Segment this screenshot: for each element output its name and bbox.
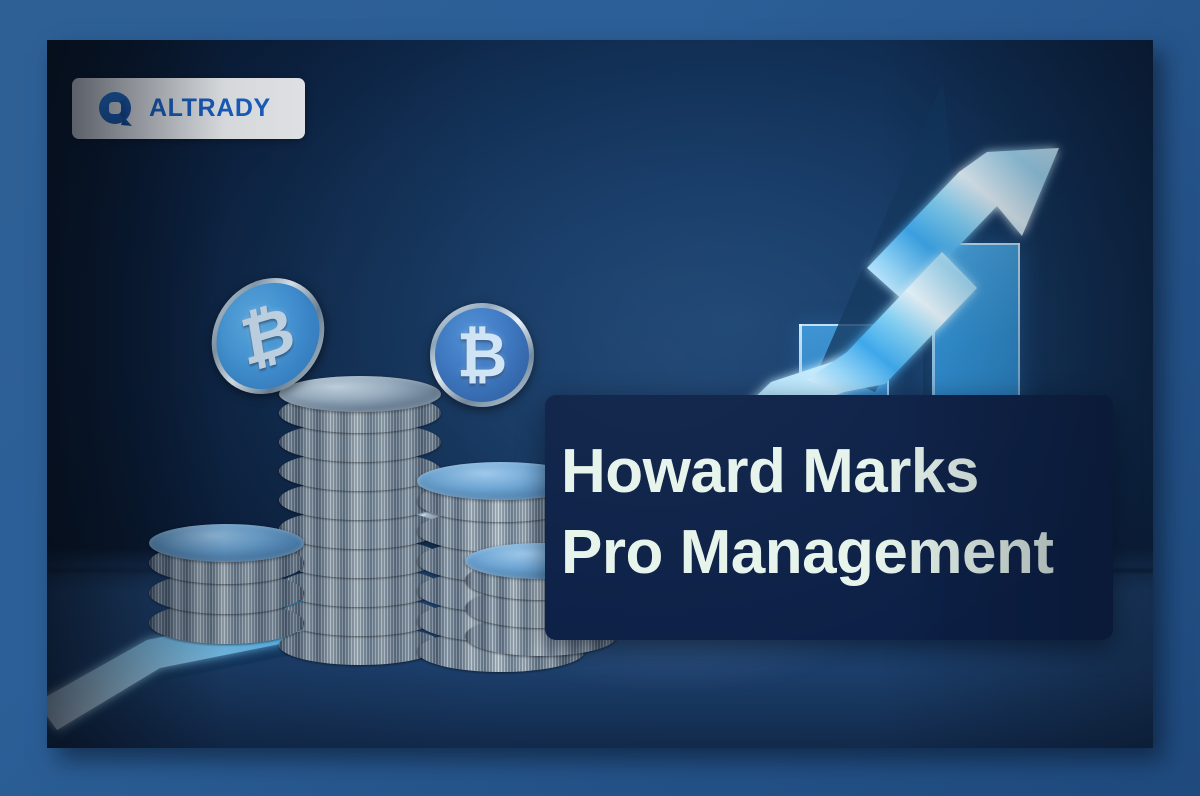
hero-banner-card: ₿ ₿ [47, 40, 1153, 748]
bar-top-highlight [932, 243, 1020, 245]
bitcoin-coin-front: ₿ [430, 303, 534, 407]
coin-face: ₿ [435, 308, 529, 402]
bar-top-highlight [799, 324, 889, 326]
altrady-wordmark: ALTRADY [149, 94, 271, 123]
outer-frame: ₿ ₿ [0, 0, 1200, 796]
title-panel: Howard Marks Pro Management [545, 395, 1113, 640]
altrady-q-logo-icon [96, 89, 136, 129]
title-line-1: Howard Marks [561, 431, 1113, 512]
title-line-2: Pro Management [561, 512, 1113, 593]
altrady-logo-badge[interactable]: ALTRADY [72, 78, 305, 139]
bitcoin-symbol-icon: ₿ [457, 320, 508, 391]
bitcoin-symbol-icon: ₿ [236, 291, 300, 380]
